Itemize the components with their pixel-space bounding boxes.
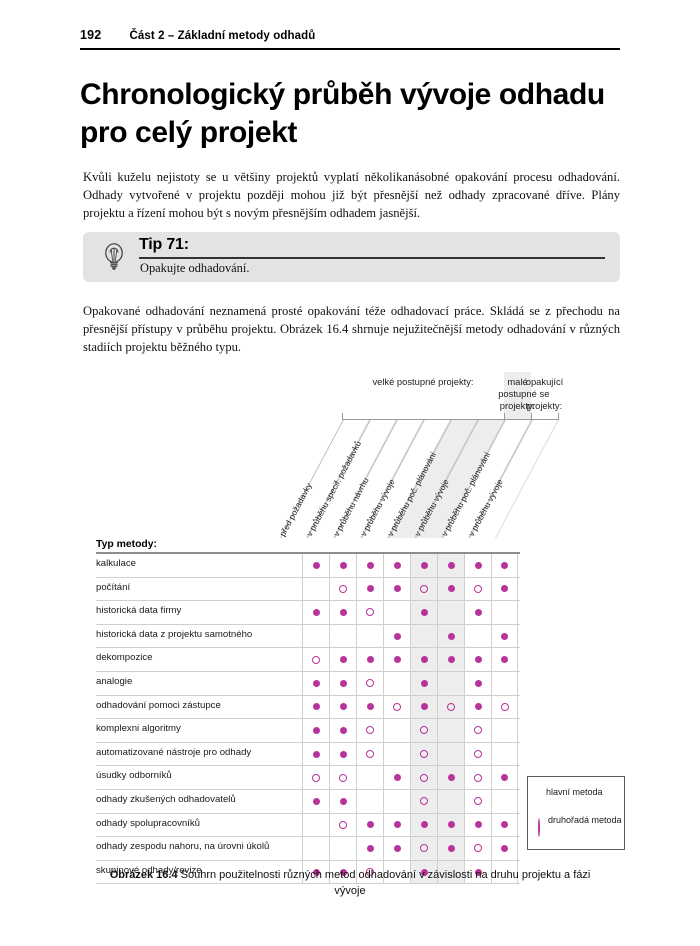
table-cell [410,554,437,577]
table-row: analogie [96,672,520,696]
table-cell [491,790,518,813]
table-cell [356,625,383,648]
filled-dot-icon [501,774,508,781]
row-label: dekompozice [96,652,153,663]
filled-dot-icon [475,562,482,569]
table-header-row: Typ metody: [96,532,520,554]
table-cell [491,625,518,648]
row-cells [302,790,518,813]
row-cells [302,578,518,601]
table-cell [437,719,464,742]
table-cell [302,719,329,742]
table-cell [329,719,356,742]
table-cell [356,837,383,860]
table-cell [302,814,329,837]
table-cell [437,814,464,837]
table-cell [356,814,383,837]
table-cell [356,743,383,766]
table-cell [437,743,464,766]
hollow-dot-icon [447,703,455,711]
table-cell [302,696,329,719]
table-cell [410,790,437,813]
row-label: automatizované nástroje pro odhady [96,747,251,758]
filled-dot-icon [394,562,401,569]
row-label: komplexni algoritmy [96,723,181,734]
hollow-dot-icon [474,774,482,782]
filled-dot-icon [340,680,347,687]
group-header-tick [342,413,343,420]
table-cell [491,719,518,742]
row-label: historická data firmy [96,605,181,616]
after-tip-paragraph: Opakované odhadování neznamená prosté op… [83,302,620,356]
table-cell [464,790,491,813]
table-cell [464,648,491,671]
caption-prefix: Obrázek 16.4 [110,869,178,881]
table-cell [329,790,356,813]
hollow-dot-icon [339,585,347,593]
table-cell [356,790,383,813]
group-header-tick [504,413,505,420]
table-cell [356,766,383,789]
table-cell [410,766,437,789]
table-cell [464,601,491,624]
table-row: kalkulace [96,554,520,578]
filled-dot-icon [501,656,508,663]
hollow-dot-icon [339,821,347,829]
table-cell [329,672,356,695]
table-cell [356,648,383,671]
filled-dot-icon [501,562,508,569]
table-cell [329,578,356,601]
filled-dot-icon [367,562,374,569]
page-number: 192 [80,28,101,42]
filled-dot-icon [448,633,455,640]
table-row: úsudky odborníků [96,766,520,790]
table-row: odhady zkušených odhadovatelů [96,790,520,814]
row-label: kalkulace [96,558,136,569]
hollow-dot-icon [474,797,482,805]
filled-dot-icon [394,656,401,663]
filled-dot-icon [448,562,455,569]
tip-divider [139,257,605,259]
filled-dot-icon [421,609,428,616]
filled-dot-icon [340,727,347,734]
table-cell [410,578,437,601]
table-cell [356,601,383,624]
table-cell [464,719,491,742]
filled-dot-icon [421,821,428,828]
table-cell [383,696,410,719]
row-cells [302,672,518,695]
filled-dot-icon [448,656,455,663]
legend-box: hlavní metoda druhořadá metoda [527,776,625,850]
tip-heading: Tip 71: [139,236,189,254]
table-cell [464,625,491,648]
table-cell [302,743,329,766]
filled-dot-icon [394,585,401,592]
group-header-label: velké postupné projekty: [332,376,514,388]
filled-dot-icon [340,703,347,710]
filled-dot-icon [394,633,401,640]
table-cell [383,625,410,648]
table-cell [464,743,491,766]
table-cell [383,578,410,601]
hollow-dot-icon [366,750,374,758]
hollow-dot-icon [420,726,428,734]
table-cell [302,648,329,671]
table-cell [356,696,383,719]
table-cell [464,766,491,789]
row-label: analogie [96,676,132,687]
legend-label-secondary: druhořadá metoda [548,815,622,827]
table-cell [464,672,491,695]
table-cell [410,601,437,624]
hollow-dot-icon [538,819,540,837]
table-cell [437,672,464,695]
legend-item-primary: hlavní metoda [538,787,603,799]
table-cell [383,554,410,577]
filled-dot-icon [340,751,347,758]
figure-16-4: velké postupné projekty:malé postupné pr… [0,372,700,872]
filled-dot-icon [475,609,482,616]
hollow-dot-icon [393,703,401,711]
filled-dot-icon [313,798,320,805]
table-cell [383,814,410,837]
header-divider [80,48,620,50]
row-cells [302,648,518,671]
filled-dot-icon [394,845,401,852]
hollow-dot-icon [420,750,428,758]
row-cells [302,554,518,577]
table-cell [491,648,518,671]
table-cell [464,814,491,837]
legend-item-secondary: druhořadá metoda [538,815,622,837]
table-row: počítání [96,578,520,602]
table-cell [356,719,383,742]
table-row: odhadování pomoci zástupce [96,696,520,720]
table-cell [302,766,329,789]
row-label: odhady spolupracovníků [96,818,200,829]
table-cell [329,766,356,789]
legend-label-primary: hlavní metoda [546,787,603,799]
hollow-dot-icon [420,844,428,852]
row-label: úsudky odborníků [96,770,172,781]
row-cells [302,625,518,648]
table-cell [329,696,356,719]
filled-dot-icon [340,798,347,805]
filled-dot-icon [367,845,374,852]
table-cell [437,790,464,813]
filled-dot-icon [367,821,374,828]
filled-dot-icon [367,656,374,663]
table-cell [329,554,356,577]
table-cell [437,601,464,624]
table-cell [302,790,329,813]
filled-dot-icon [421,656,428,663]
table-cell [329,625,356,648]
table-cell [491,814,518,837]
table-cell [302,601,329,624]
table-row: komplexni algoritmy [96,719,520,743]
group-header-label: opakující se projekty: [521,376,568,412]
hollow-dot-icon [474,726,482,734]
table-cell [464,837,491,860]
table-cell [410,672,437,695]
section-title: Část 2 – Základní metody odhadů [129,30,315,42]
table-row: historická data firmy [96,601,520,625]
filled-dot-icon [475,680,482,687]
table-cell [491,672,518,695]
hollow-dot-icon [474,844,482,852]
hollow-dot-icon [339,774,347,782]
table-cell [329,648,356,671]
table-cell [383,672,410,695]
table-row: odhady zespodu nahoru, na úrovni úkolů [96,837,520,861]
group-header-tick [531,413,532,420]
hollow-dot-icon [312,656,320,664]
table-cell [491,743,518,766]
table-cell [383,648,410,671]
intro-paragraph: Kvůli kuželu nejistoty se u většiny proj… [83,168,620,222]
table-cell [383,790,410,813]
filled-dot-icon [421,703,428,710]
table-cell [437,837,464,860]
table-cell [464,578,491,601]
table-cell [356,578,383,601]
page-title: Chronologický průběh vývoje odhadu pro c… [80,76,625,153]
table-cell [383,766,410,789]
filled-dot-icon [448,774,455,781]
table-cell [410,696,437,719]
filled-dot-icon [421,680,428,687]
filled-dot-icon [501,821,508,828]
table-cell [437,578,464,601]
hollow-dot-icon [312,774,320,782]
figure-caption: Obrázek 16.4 Souhrn použitelnosti různýc… [100,868,600,900]
table-cell [464,554,491,577]
filled-dot-icon [367,703,374,710]
row-cells [302,719,518,742]
row-label: odhady zkušených odhadovatelů [96,794,236,805]
table-cell [383,601,410,624]
filled-dot-icon [475,821,482,828]
filled-dot-icon [501,633,508,640]
hollow-dot-icon [501,703,509,711]
tip-text: Opakujte odhadování. [140,261,249,276]
filled-dot-icon [394,774,401,781]
filled-dot-icon [340,562,347,569]
filled-dot-icon [394,821,401,828]
table-cell [437,625,464,648]
row-header-label: Typ metody: [96,539,157,550]
tip-box: Tip 71: Opakujte odhadování. [83,232,620,282]
hollow-dot-icon [420,774,428,782]
table-cell [491,578,518,601]
table-cell [302,837,329,860]
table-cell [302,625,329,648]
table-row: odhady spolupracovníků [96,814,520,838]
table-cell [302,554,329,577]
hollow-dot-icon [366,608,374,616]
table-cell [383,743,410,766]
hollow-dot-icon [474,585,482,593]
filled-dot-icon [340,656,347,663]
table-cell [383,837,410,860]
hollow-dot-icon [420,585,428,593]
filled-dot-icon [475,656,482,663]
table-cell [491,696,518,719]
filled-dot-icon [313,609,320,616]
table-cell [491,601,518,624]
hollow-dot-icon [366,726,374,734]
page: 192 Část 2 – Základní metody odhadů Chro… [0,0,700,946]
table-body: kalkulacepočítáníhistorická data firmyhi… [96,554,520,884]
filled-dot-icon [448,845,455,852]
row-cells [302,837,518,860]
row-label: odhadování pomoci zástupce [96,700,221,711]
table-row: automatizované nástroje pro odhady [96,743,520,767]
filled-dot-icon [501,585,508,592]
hollow-dot-icon [474,750,482,758]
table-cell [437,554,464,577]
row-cells [302,766,518,789]
filled-dot-icon [340,609,347,616]
table-row: historická data z projektu samotného [96,625,520,649]
table-cell [302,672,329,695]
table-cell [437,696,464,719]
filled-dot-icon [313,680,320,687]
row-label: počítání [96,582,130,593]
group-header-tick [558,413,559,420]
table-cell [464,696,491,719]
row-label: odhady zespodu nahoru, na úrovni úkolů [96,841,269,852]
table-cell [383,719,410,742]
table-cell [410,648,437,671]
filled-dot-icon [448,585,455,592]
row-cells [302,743,518,766]
row-cells [302,601,518,624]
table-cell [356,554,383,577]
filled-dot-icon [313,751,320,758]
table-cell [437,766,464,789]
filled-dot-icon [313,703,320,710]
filled-dot-icon [367,585,374,592]
filled-dot-icon [448,821,455,828]
table-cell [491,766,518,789]
table-cell [491,837,518,860]
table-cell [329,814,356,837]
table-cell [302,578,329,601]
table-cell [356,672,383,695]
row-cells [302,814,518,837]
hollow-dot-icon [366,679,374,687]
table-cell [410,625,437,648]
filled-dot-icon [313,562,320,569]
table-cell [329,601,356,624]
row-cells [302,696,518,719]
caption-text: Souhrn použitelnosti různých metod odhad… [181,869,591,897]
hollow-dot-icon [420,797,428,805]
table-cell [410,719,437,742]
filled-dot-icon [313,727,320,734]
filled-dot-icon [475,703,482,710]
table-cell [329,837,356,860]
table-row: dekompozice [96,648,520,672]
table-cell [329,743,356,766]
running-head: 192 Část 2 – Základní metody odhadů [80,28,620,42]
table-cell [410,814,437,837]
methods-table: Typ metody: kalkulacepočítáníhistorická … [96,532,520,884]
table-cell [491,554,518,577]
filled-dot-icon [421,562,428,569]
column-header-band [280,420,640,538]
filled-dot-icon [501,845,508,852]
table-cell [410,743,437,766]
row-label: historická data z projektu samotného [96,629,252,640]
table-cell [437,648,464,671]
lightbulb-icon [97,240,131,274]
table-cell [410,837,437,860]
